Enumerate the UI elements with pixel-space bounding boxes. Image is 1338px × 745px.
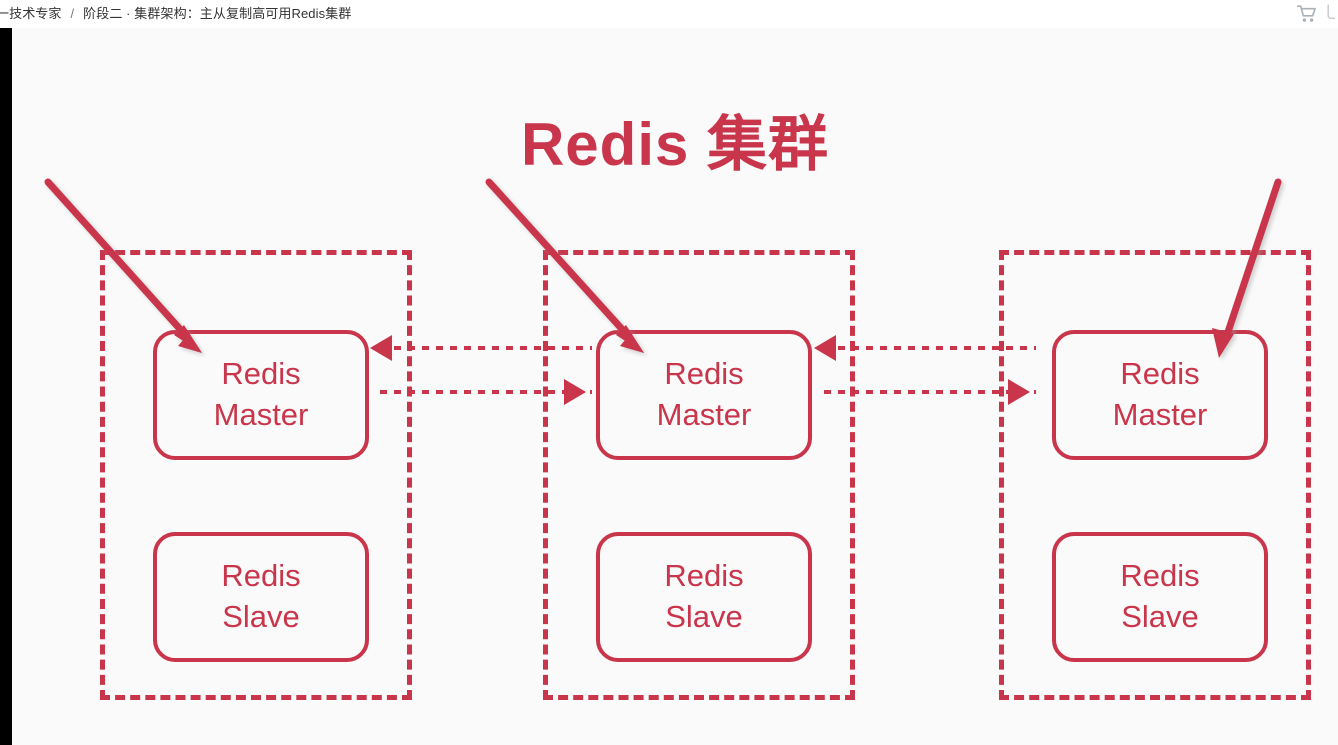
slide-canvas: Redis 集群 Redis Master Redis Slave Redis …	[12, 28, 1338, 745]
node-label-line2: Slave	[665, 597, 743, 638]
node-group1-master[interactable]: Redis Master	[153, 330, 369, 460]
node-label-line2: Master	[1113, 395, 1208, 436]
node-group2-slave[interactable]: Redis Slave	[596, 532, 812, 662]
node-group3-master[interactable]: Redis Master	[1052, 330, 1268, 460]
cluster-group-1: Redis Master Redis Slave	[100, 250, 412, 700]
node-label-line1: Redis	[221, 354, 300, 395]
node-label-line2: Slave	[222, 597, 300, 638]
node-label-line1: Redis	[1120, 556, 1199, 597]
edge-partial-icon	[1327, 4, 1335, 25]
node-label-line2: Master	[214, 395, 309, 436]
cluster-group-3: Redis Master Redis Slave	[999, 250, 1311, 700]
connector-arrowhead-right	[564, 379, 586, 405]
node-label-line1: Redis	[1120, 354, 1199, 395]
connector-g1-g2-inbound	[380, 346, 592, 350]
presentation-viewer: 一技术专家 / 阶段二 · 集群架构：主从复制高可用Redis集群	[0, 0, 1338, 745]
node-group1-slave[interactable]: Redis Slave	[153, 532, 369, 662]
header-bar: 一技术专家 / 阶段二 · 集群架构：主从复制高可用Redis集群	[0, 0, 1338, 28]
cart-button[interactable]	[1290, 0, 1324, 28]
edge-partial-button[interactable]	[1324, 0, 1338, 28]
connector-arrowhead-left	[370, 335, 392, 361]
connector-arrowhead-left	[814, 335, 836, 361]
node-label-line1: Redis	[221, 556, 300, 597]
node-label-line1: Redis	[664, 556, 743, 597]
slide-title: Redis 集群	[12, 112, 1338, 178]
node-group3-slave[interactable]: Redis Slave	[1052, 532, 1268, 662]
connector-arrowhead-right	[1008, 379, 1030, 405]
connector-g2-g3-outbound	[824, 390, 1036, 394]
node-label-line2: Slave	[1121, 597, 1199, 638]
connector-g1-g2-outbound	[380, 390, 592, 394]
header-actions	[1290, 0, 1338, 28]
node-label-line2: Master	[657, 395, 752, 436]
cluster-group-2: Redis Master Redis Slave	[543, 250, 855, 700]
breadcrumb-separator: /	[71, 0, 75, 28]
breadcrumb-current: 阶段二 · 集群架构：主从复制高可用Redis集群	[83, 0, 351, 28]
breadcrumb: 一技术专家 / 阶段二 · 集群架构：主从复制高可用Redis集群	[0, 0, 351, 28]
left-rail	[0, 28, 12, 745]
connector-g2-g3-inbound	[824, 346, 1036, 350]
node-label-line1: Redis	[664, 354, 743, 395]
node-group2-master[interactable]: Redis Master	[596, 330, 812, 460]
breadcrumb-parent[interactable]: 一技术专家	[0, 0, 62, 28]
cart-icon	[1297, 5, 1317, 23]
